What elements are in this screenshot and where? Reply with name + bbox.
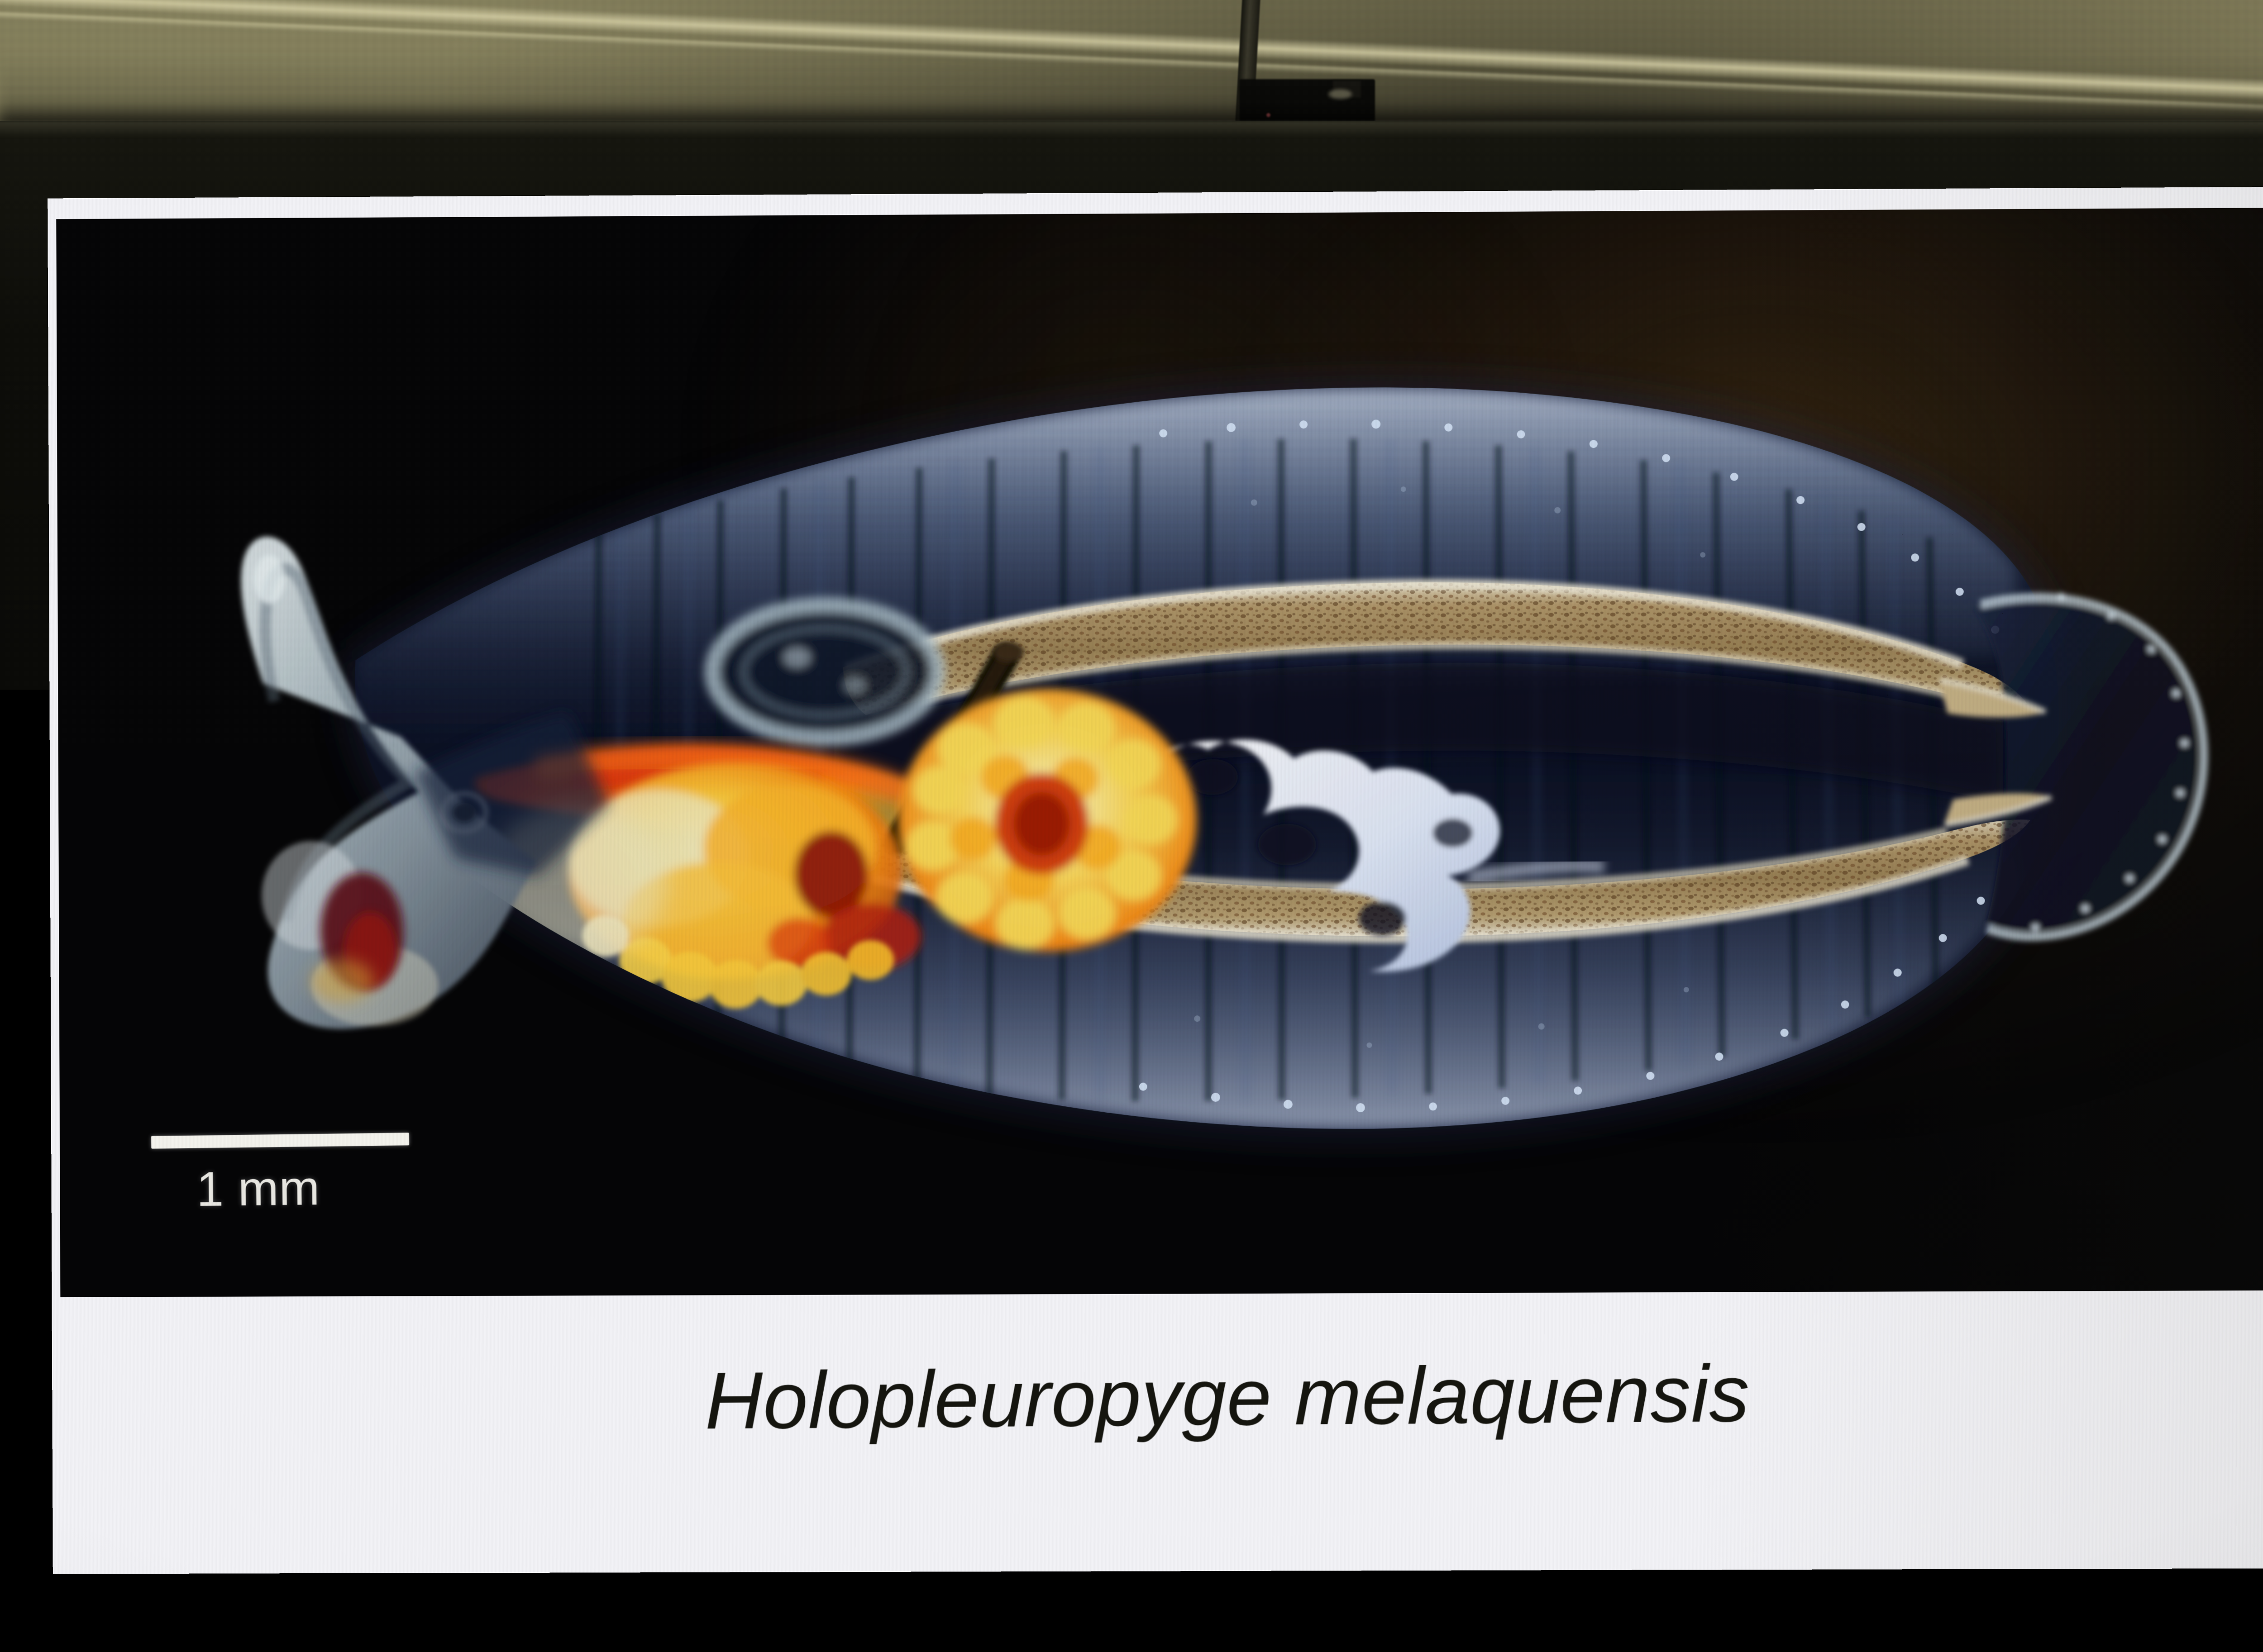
scale-bar-label: 1 mm: [196, 1158, 410, 1217]
photomicrograph-panel: 1 mm: [56, 207, 2263, 1297]
scale-bar: 1 mm: [151, 1134, 410, 1217]
slide-caption: Holopleuropyge melaquensis: [52, 1342, 2263, 1452]
screen[interactable]: 1 mm Holopleuropyge melaquensis: [48, 186, 2263, 1574]
mount-indicator-dot: [1266, 113, 1270, 117]
bezel-top-highlight: [0, 121, 2263, 138]
power-led-icon[interactable]: [315, 1592, 327, 1601]
sony-logo: SONY: [0, 1610, 2263, 1639]
television: 1 mm Holopleuropyge melaquensis SONY: [0, 121, 2263, 1652]
bezel-bottom-highlight: [0, 1595, 2263, 1605]
scale-bar-line: [151, 1133, 409, 1148]
monitor-mount-highlight: [1328, 89, 1352, 99]
